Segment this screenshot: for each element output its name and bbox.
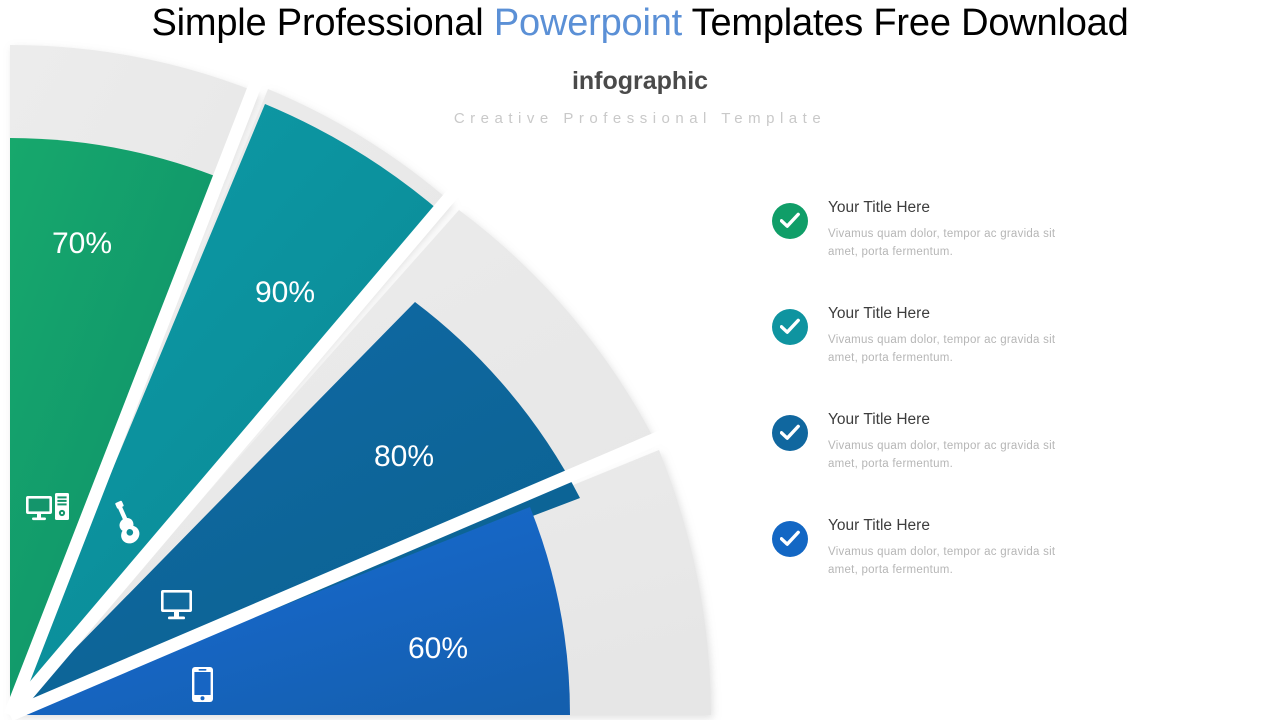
list-item[interactable]: Your Title Here Vivamus quam dolor, temp… bbox=[772, 409, 1102, 515]
list-item[interactable]: Your Title Here Vivamus quam dolor, temp… bbox=[772, 303, 1102, 409]
list-item-title: Your Title Here bbox=[828, 199, 1068, 217]
slide-canvas: Simple Professional Powerpoint Templates… bbox=[0, 0, 1280, 720]
list-item-text: Your Title Here Vivamus quam dolor, temp… bbox=[828, 197, 1068, 261]
list-item-body: Vivamus quam dolor, tempor ac gravida si… bbox=[828, 331, 1068, 367]
value-label-80: 80% bbox=[374, 440, 434, 473]
list-item-title: Your Title Here bbox=[828, 305, 1068, 323]
check-glyph bbox=[780, 212, 800, 230]
radial-gauge-chart: 70% 90% 80% 60% bbox=[0, 0, 780, 720]
page-title-part-1: Simple Professional bbox=[151, 2, 493, 44]
check-glyph bbox=[780, 424, 800, 442]
list-item-text: Your Title Here Vivamus quam dolor, temp… bbox=[828, 409, 1068, 473]
list-item-body: Vivamus quam dolor, tempor ac gravida si… bbox=[828, 543, 1068, 579]
page-title: Simple Professional Powerpoint Templates… bbox=[0, 2, 1280, 45]
slide-subheading: Creative Professional Template bbox=[0, 110, 1280, 127]
bullet-list: Your Title Here Vivamus quam dolor, temp… bbox=[772, 197, 1102, 621]
smartphone-icon bbox=[192, 667, 213, 702]
check-circle-icon bbox=[772, 203, 808, 239]
list-item-text: Your Title Here Vivamus quam dolor, temp… bbox=[828, 515, 1068, 579]
check-glyph bbox=[780, 530, 800, 548]
check-circle-icon bbox=[772, 309, 808, 345]
list-item-text: Your Title Here Vivamus quam dolor, temp… bbox=[828, 303, 1068, 367]
list-item-body: Vivamus quam dolor, tempor ac gravida si… bbox=[828, 437, 1068, 473]
list-item-title: Your Title Here bbox=[828, 411, 1068, 429]
list-item[interactable]: Your Title Here Vivamus quam dolor, temp… bbox=[772, 515, 1102, 621]
list-item-body: Vivamus quam dolor, tempor ac gravida si… bbox=[828, 225, 1068, 261]
slide-heading: infographic bbox=[0, 67, 1280, 96]
check-circle-icon bbox=[772, 521, 808, 557]
page-title-highlight: Powerpoint bbox=[494, 2, 682, 44]
value-label-70: 70% bbox=[52, 227, 112, 260]
list-item-title: Your Title Here bbox=[828, 517, 1068, 535]
value-label-60: 60% bbox=[408, 632, 468, 665]
check-glyph bbox=[780, 318, 800, 336]
page-title-part-2: Templates Free Download bbox=[682, 2, 1129, 44]
value-label-90: 90% bbox=[255, 276, 315, 309]
list-item[interactable]: Your Title Here Vivamus quam dolor, temp… bbox=[772, 197, 1102, 303]
check-circle-icon bbox=[772, 415, 808, 451]
